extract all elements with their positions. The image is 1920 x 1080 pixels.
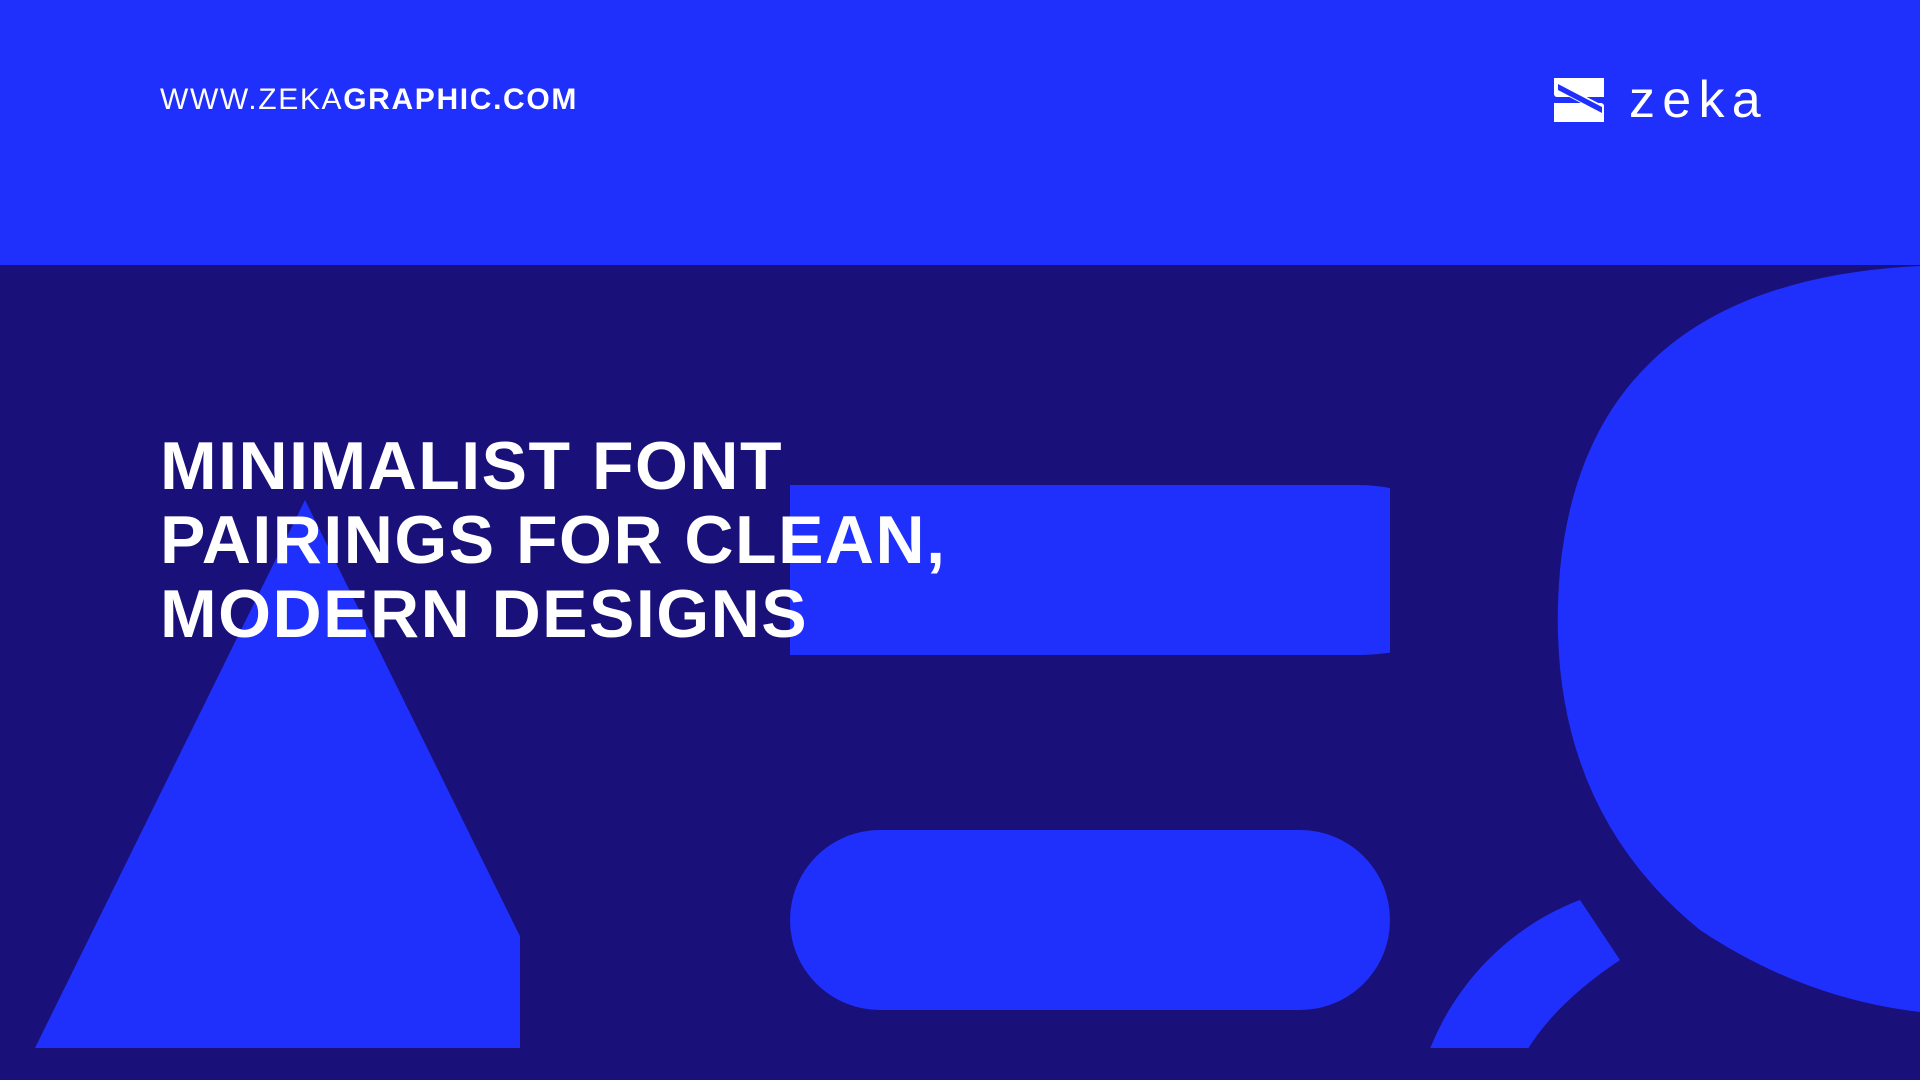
- headline-line-2: PAIRINGS FOR CLEAN,: [160, 504, 1410, 578]
- headline-line-1: MINIMALIST FONT: [160, 430, 1410, 504]
- headline: MINIMALIST FONT PAIRINGS FOR CLEAN, MODE…: [160, 430, 1410, 651]
- article-banner: WWW.ZEKAGRAPHIC.COM zeka MINIMALIST FONT…: [0, 0, 1920, 1080]
- band-floor: [0, 1048, 1920, 1080]
- headline-line-3: MODERN DESIGNS: [160, 578, 1410, 652]
